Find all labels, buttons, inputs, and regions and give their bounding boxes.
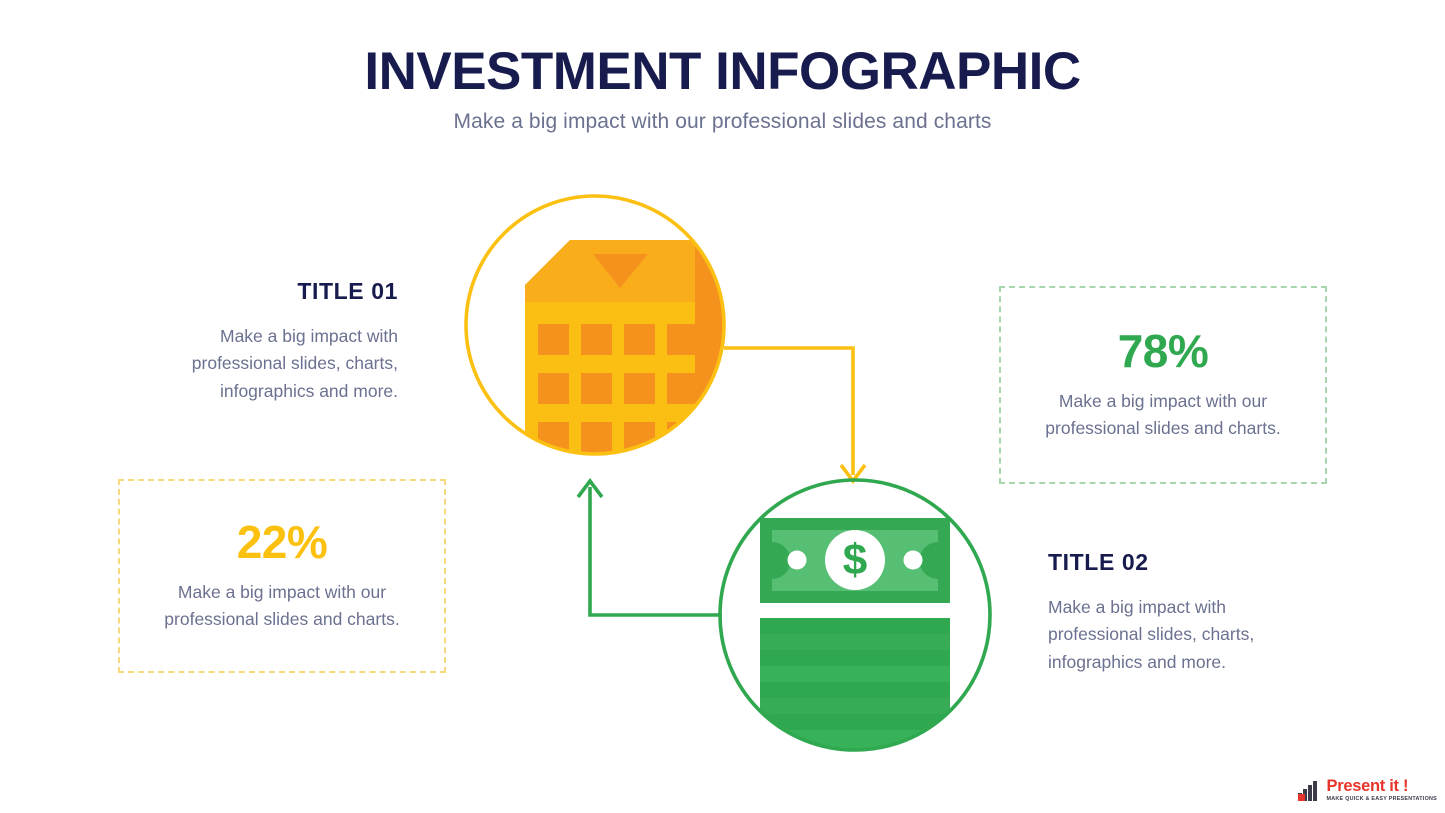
building-circle xyxy=(466,196,740,491)
office-building-icon xyxy=(525,240,740,491)
central-diagram: $ xyxy=(440,190,1030,780)
text-block-title-02: TITLE 02 Make a big impact with professi… xyxy=(1048,549,1306,676)
money-to-building-arrow xyxy=(578,481,722,615)
stat-box-22-percent: 22% Make a big impact with our professio… xyxy=(118,479,446,673)
banknote-stack-icon: $ xyxy=(760,518,950,752)
infographic-slide: INVESTMENT INFOGRAPHIC Make a big impact… xyxy=(0,0,1445,813)
title-02-body: Make a big impact with professional slid… xyxy=(1048,594,1306,676)
stat-78-description: Make a big impact with our professional … xyxy=(1028,388,1298,442)
stat-box-78-percent: 78% Make a big impact with our professio… xyxy=(999,286,1327,484)
logo-text: Present it ! MAKE QUICK & EASY PRESENTAT… xyxy=(1327,778,1437,802)
money-circle: $ xyxy=(720,480,990,752)
text-block-title-01: TITLE 01 Make a big impact with professi… xyxy=(150,278,398,405)
bar-chart-logo-icon xyxy=(1296,777,1322,803)
stat-78-value: 78% xyxy=(1118,328,1209,374)
brand-logo[interactable]: Present it ! MAKE QUICK & EASY PRESENTAT… xyxy=(1296,777,1437,803)
title-02-heading: TITLE 02 xyxy=(1048,549,1306,576)
title-01-body: Make a big impact with professional slid… xyxy=(150,323,398,405)
page-title: INVESTMENT INFOGRAPHIC xyxy=(0,44,1445,100)
page-subtitle: Make a big impact with our professional … xyxy=(0,110,1445,134)
dollar-symbol: $ xyxy=(843,536,867,585)
logo-tagline: MAKE QUICK & EASY PRESENTATIONS xyxy=(1327,797,1437,802)
stat-22-value: 22% xyxy=(237,519,328,565)
building-to-money-arrow xyxy=(724,348,865,481)
logo-wordmark: Present it ! xyxy=(1327,778,1409,795)
header: INVESTMENT INFOGRAPHIC Make a big impact… xyxy=(0,44,1445,134)
stat-22-description: Make a big impact with our professional … xyxy=(147,579,417,633)
title-01-heading: TITLE 01 xyxy=(150,278,398,305)
